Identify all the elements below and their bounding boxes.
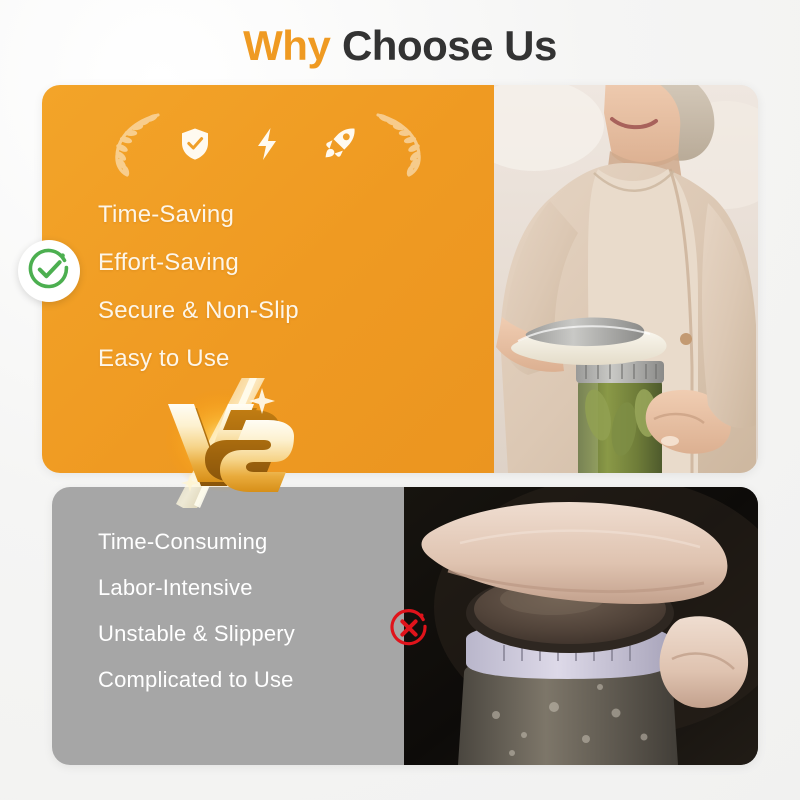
infographic-root: Why Choose Us: [0, 0, 800, 800]
list-item: Labor-Intensive: [98, 577, 295, 599]
list-item: Easy to Use: [98, 347, 299, 371]
list-item: Secure & Non-Slip: [98, 299, 299, 323]
list-item: Complicated to Use: [98, 669, 295, 691]
pro-check-badge: [18, 240, 80, 302]
rocket-icon: [324, 127, 356, 166]
list-item: Time-Saving: [98, 203, 299, 227]
pro-photo: [494, 85, 758, 473]
trust-icon-band: [42, 107, 494, 185]
list-item: Effort-Saving: [98, 251, 299, 275]
circle-check-icon: [28, 248, 70, 295]
list-item: Time-Consuming: [98, 531, 295, 553]
page-title-accent: Why: [243, 22, 330, 69]
pro-panel: Time-Saving Effort-Saving Secure & Non-S…: [42, 85, 758, 473]
page-title-main: Choose Us: [342, 22, 557, 69]
pro-panel-content: Time-Saving Effort-Saving Secure & Non-S…: [42, 85, 494, 473]
laurel-wreath-left-icon: [108, 111, 166, 182]
shield-check-icon: [180, 127, 210, 166]
con-photo: [404, 487, 758, 765]
trust-icons: [180, 127, 356, 166]
con-feature-list: Time-Consuming Labor-Intensive Unstable …: [98, 531, 295, 691]
lightning-bolt-icon: [256, 127, 278, 166]
circle-x-icon: [389, 608, 429, 653]
list-item: Unstable & Slippery: [98, 623, 295, 645]
con-x-badge: [386, 607, 432, 653]
con-photo-surface: [404, 487, 758, 765]
laurel-wreath-right-icon: [370, 111, 428, 182]
con-panel-content: Time-Consuming Labor-Intensive Unstable …: [52, 487, 404, 765]
page-title: Why Choose Us: [0, 22, 800, 70]
pro-photo-surface: [494, 85, 758, 473]
pro-feature-list: Time-Saving Effort-Saving Secure & Non-S…: [98, 203, 299, 371]
